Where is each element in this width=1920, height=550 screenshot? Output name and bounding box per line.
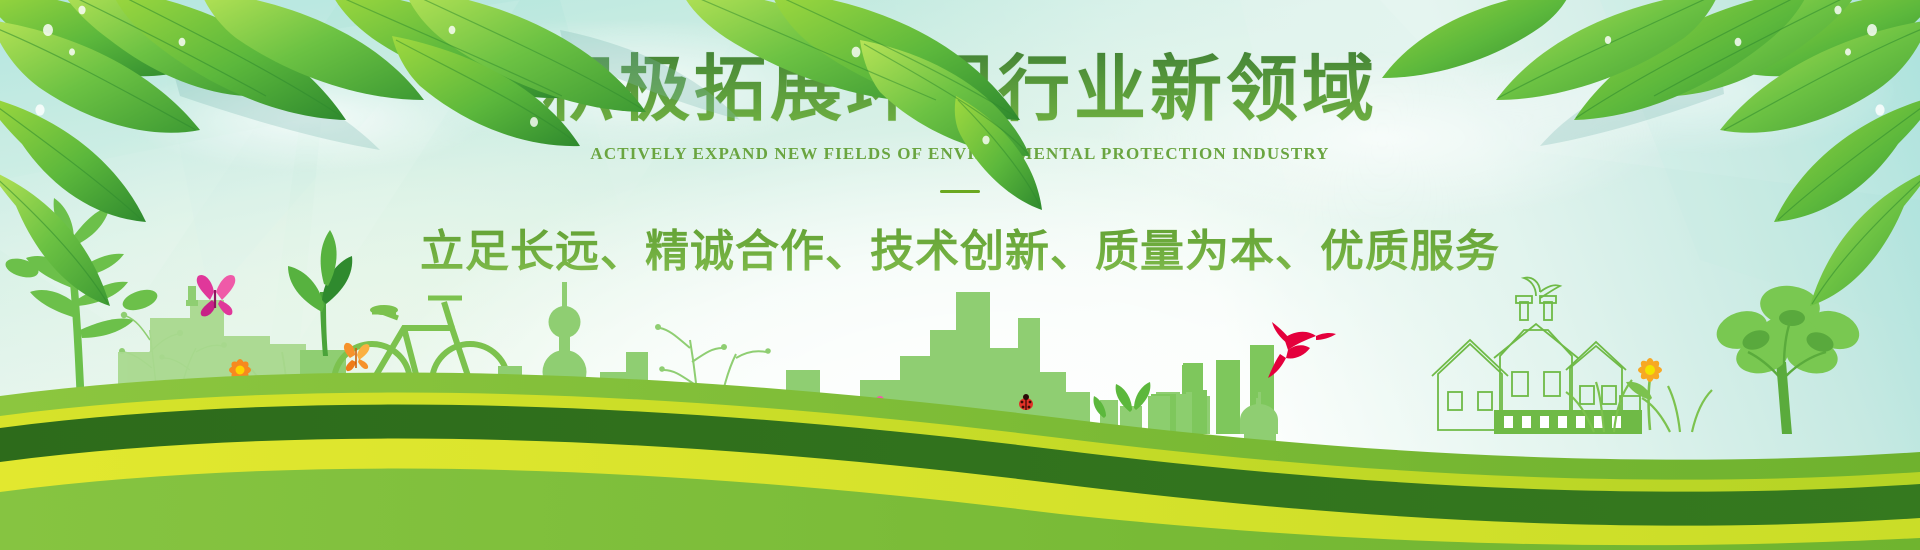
divider-wrapper xyxy=(0,190,1920,193)
title-divider xyxy=(940,190,980,193)
page-subtitle: ACTIVELY EXPAND NEW FIELDS OF ENVIRONMEN… xyxy=(0,144,1920,164)
page-tagline: 立足长远、精诚合作、技术创新、质量为本、优质服务 xyxy=(0,215,1920,279)
headline-block: 积极拓展环保行业新领域 ACTIVELY EXPAND NEW FIELDS O… xyxy=(0,52,1920,279)
page-title: 积极拓展环保行业新领域 xyxy=(0,52,1920,128)
eco-banner: 积极拓展环保行业新领域 ACTIVELY EXPAND NEW FIELDS O… xyxy=(0,0,1920,550)
